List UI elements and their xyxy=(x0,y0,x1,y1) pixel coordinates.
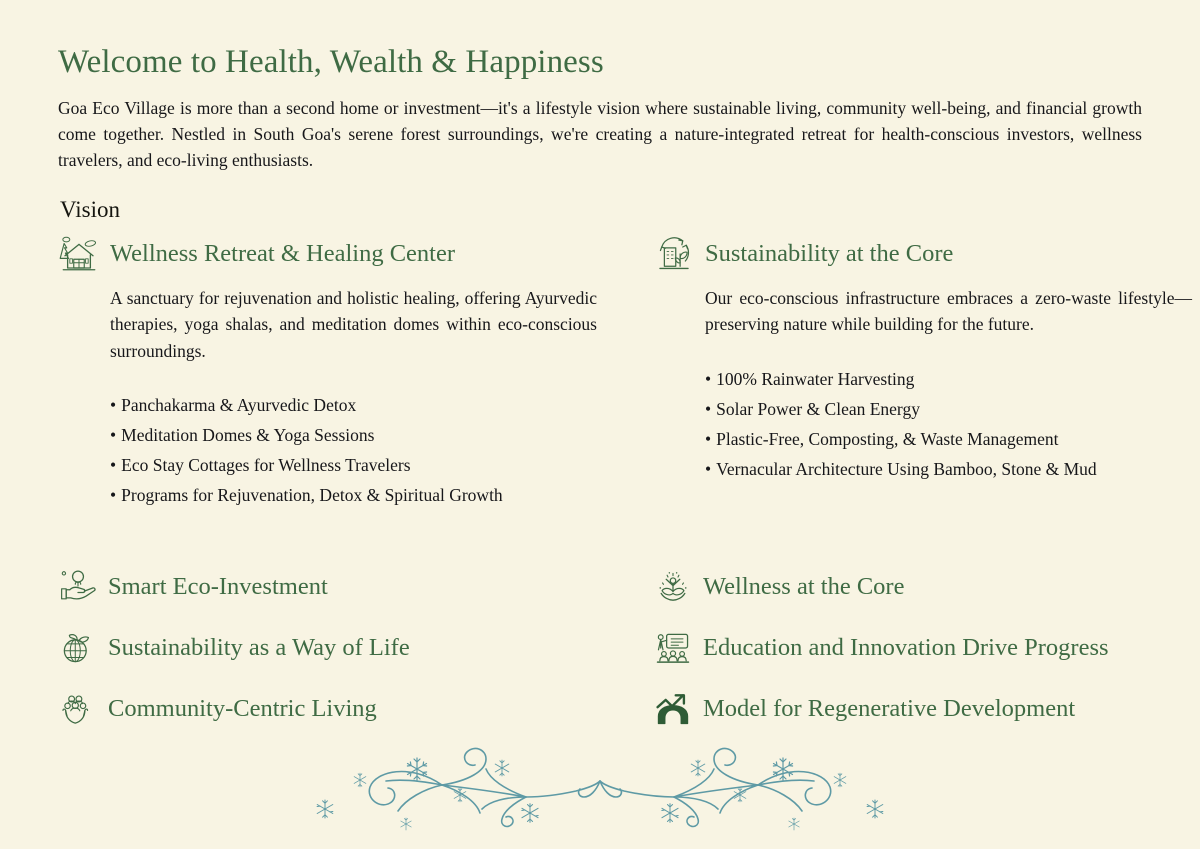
growth-arrow-bridge-icon xyxy=(653,689,693,729)
list-item-label: Plastic-Free, Composting, & Waste Manage… xyxy=(716,429,1058,449)
card-description: A sanctuary for rejuvenation and holisti… xyxy=(110,285,601,364)
list-item-label: Meditation Domes & Yoga Sessions xyxy=(121,425,374,445)
highlight-label: Community-Centric Living xyxy=(108,695,377,723)
classroom-presentation-icon xyxy=(653,628,693,668)
list-item-label: Programs for Rejuvenation, Detox & Spiri… xyxy=(121,485,503,505)
list-item: •Eco Stay Cottages for Wellness Traveler… xyxy=(110,450,601,480)
bullet-marker: • xyxy=(110,450,116,480)
eco-cabin-icon xyxy=(58,233,100,275)
highlights-left-column: Smart Eco-Investment Sustainability as a… xyxy=(58,556,601,739)
bullet-marker: • xyxy=(110,420,116,450)
highlight-label: Smart Eco-Investment xyxy=(108,573,328,601)
highlight-label: Model for Regenerative Development xyxy=(703,695,1075,723)
list-item: •100% Rainwater Harvesting xyxy=(705,364,1196,394)
card-bullet-list: •100% Rainwater Harvesting •Solar Power … xyxy=(705,364,1196,484)
list-item-label: Eco Stay Cottages for Wellness Travelers xyxy=(121,455,410,475)
list-item: •Meditation Domes & Yoga Sessions xyxy=(110,420,601,450)
card-header: Wellness Retreat & Healing Center xyxy=(58,233,601,275)
list-item-label: Vernacular Architecture Using Bamboo, St… xyxy=(716,459,1097,479)
highlight-label: Wellness at the Core xyxy=(703,573,904,601)
list-item-label: Solar Power & Clean Energy xyxy=(716,399,920,419)
vision-cards-grid: Wellness Retreat & Healing Center A sanc… xyxy=(58,233,1142,510)
list-item-label: 100% Rainwater Harvesting xyxy=(716,369,914,389)
bullet-marker: • xyxy=(705,454,711,484)
hand-coin-sprout-icon xyxy=(58,567,98,607)
card-bullet-list: •Panchakarma & Ayurvedic Detox •Meditati… xyxy=(110,390,601,510)
highlight-label: Sustainability as a Way of Life xyxy=(108,634,410,662)
globe-leaves-icon xyxy=(58,628,98,668)
bullet-marker: • xyxy=(110,390,116,420)
bullet-marker: • xyxy=(110,480,116,510)
card-header: Sustainability at the Core xyxy=(653,233,1196,275)
document-page: Welcome to Health, Wealth & Happiness Go… xyxy=(0,0,1200,849)
card-title: Wellness Retreat & Healing Center xyxy=(110,240,455,268)
section-heading-vision: Vision xyxy=(60,196,1142,224)
vision-card-sustainability: Sustainability at the Core Our eco-consc… xyxy=(653,233,1196,510)
bullet-marker: • xyxy=(705,424,711,454)
list-item: •Solar Power & Clean Energy xyxy=(705,394,1196,424)
card-title: Sustainability at the Core xyxy=(705,240,953,268)
hands-community-icon xyxy=(58,689,98,729)
bullet-marker: • xyxy=(705,394,711,424)
highlights-right-column: Wellness at the Core Educat xyxy=(653,556,1196,739)
list-item: •Panchakarma & Ayurvedic Detox xyxy=(110,390,601,420)
snowflake-scroll-flourish-icon xyxy=(290,735,910,831)
intro-paragraph: Goa Eco Village is more than a second ho… xyxy=(58,96,1142,174)
highlight-item-smart-eco-investment: Smart Eco-Investment xyxy=(58,556,601,617)
list-item: •Programs for Rejuvenation, Detox & Spir… xyxy=(110,480,601,510)
bullet-marker: • xyxy=(705,364,711,394)
highlight-item-regenerative-development: Model for Regenerative Development xyxy=(653,678,1196,739)
page-title: Welcome to Health, Wealth & Happiness xyxy=(58,44,1142,82)
highlight-item-community-centric-living: Community-Centric Living xyxy=(58,678,601,739)
highlight-label: Education and Innovation Drive Progress xyxy=(703,634,1109,662)
highlight-item-wellness-at-the-core: Wellness at the Core xyxy=(653,556,1196,617)
list-item: •Plastic-Free, Composting, & Waste Manag… xyxy=(705,424,1196,454)
card-description: Our eco-conscious infrastructure embrace… xyxy=(705,285,1196,338)
highlight-item-sustainability-way-of-life: Sustainability as a Way of Life xyxy=(58,617,601,678)
vision-card-wellness-retreat: Wellness Retreat & Healing Center A sanc… xyxy=(58,233,601,510)
list-item-label: Panchakarma & Ayurvedic Detox xyxy=(121,395,356,415)
highlight-item-education-innovation: Education and Innovation Drive Progress xyxy=(653,617,1196,678)
list-item: •Vernacular Architecture Using Bamboo, S… xyxy=(705,454,1196,484)
green-building-recycle-icon xyxy=(653,233,695,275)
lotus-person-icon xyxy=(653,567,693,607)
highlights-grid: Smart Eco-Investment Sustainability as a… xyxy=(58,556,1142,739)
footer-ornament xyxy=(0,735,1200,831)
